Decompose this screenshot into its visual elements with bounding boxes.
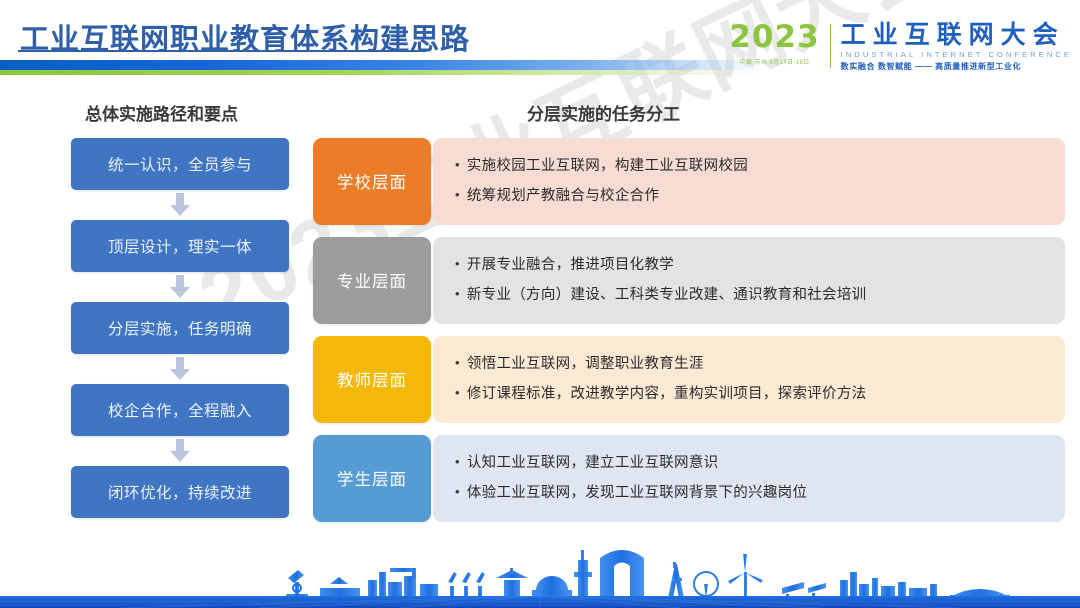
bullet-marker-icon: • [455,284,460,304]
tier-body: •开展专业融合，推进项目化教学•新专业（方向）建设、工科类专业改建、通识教育和社… [433,237,1065,324]
flow-step-1[interactable]: 统一认识，全员参与 [71,138,289,190]
tier-task-list: 学校层面•实施校园工业互联网，构建工业互联网校园•统筹规划产教融合与校企合作专业… [313,138,1065,534]
left-column-heading: 总体实施路径和要点 [85,100,238,125]
tier-bullet: •体验工业互联网，发现工业互联网背景下的兴趣岗位 [455,482,1047,504]
flow-step-3[interactable]: 分层实施，任务明确 [71,302,289,354]
logo-year: 2023 [729,22,819,53]
conference-logo: 2023 中国·苏州 8月14日-16日 工业互联网大会 INDUSTRIAL … [729,22,1072,72]
flow-step-2[interactable]: 顶层设计，理实一体 [71,220,289,272]
bullet-marker-icon: • [455,353,460,373]
slide-canvas: 2023工业互联网大会 工业互联网职业教育体系构建思路 2023 中国·苏州 8… [0,0,1080,608]
logo-name-en: INDUSTRIAL INTERNET CONFERENCE [841,50,1072,59]
slide-header: 工业互联网职业教育体系构建思路 2023 中国·苏州 8月14日-16日 工业互… [0,0,1080,90]
tier-label-text: 教师层面 [337,367,407,391]
tier-label[interactable]: 教师层面 [313,336,431,423]
title-underline [18,50,426,52]
bullet-marker-icon: • [455,482,460,502]
flow-arrow-down-icon [71,436,289,466]
tier-row: 教师层面•领悟工业互联网，调整职业教育生涯•修订课程标准，改进教学内容，重构实训… [313,336,1065,423]
tier-bullet-text: 领悟工业互联网，调整职业教育生涯 [467,353,704,375]
skyline-buildings [286,550,1010,599]
flow-arrow-down-icon [71,354,289,384]
tier-bullet: •实施校园工业互联网，构建工业互联网校园 [455,155,1047,177]
footer-skyline [0,538,1080,608]
tier-bullet-text: 新专业（方向）建设、工科类专业改建、通识教育和社会培训 [467,284,867,306]
flow-step-5[interactable]: 闭环优化，持续改进 [71,466,289,518]
tier-bullet: •开展专业融合，推进项目化教学 [455,254,1047,276]
tier-bullet: •认知工业互联网，建立工业互联网意识 [455,452,1047,474]
tier-label[interactable]: 学校层面 [313,138,431,225]
tier-bullet-text: 实施校园工业互联网，构建工业互联网校园 [467,155,748,177]
flow-arrow-down-icon [71,272,289,302]
flow-step-4[interactable]: 校企合作，全程融入 [71,384,289,436]
tier-row: 学校层面•实施校园工业互联网，构建工业互联网校园•统筹规划产教融合与校企合作 [313,138,1065,225]
implementation-path-flow: 统一认识，全员参与顶层设计，理实一体分层实施，任务明确校企合作，全程融入闭环优化… [71,138,289,518]
logo-date: 中国·苏州 8月14日-16日 [729,57,819,66]
tier-bullet-text: 统筹规划产教融合与校企合作 [467,185,659,207]
flow-step-label: 闭环优化，持续改进 [108,481,252,503]
header-green-bar [0,70,760,75]
bullet-marker-icon: • [455,452,460,472]
tier-label[interactable]: 专业层面 [313,237,431,324]
tier-bullet-text: 认知工业互联网，建立工业互联网意识 [467,452,719,474]
bullet-marker-icon: • [455,185,460,205]
flow-arrow-down-icon [71,190,289,220]
tier-bullet-text: 体验工业互联网，发现工业互联网背景下的兴趣岗位 [467,482,807,504]
tier-label[interactable]: 学生层面 [313,435,431,522]
flow-step-label: 统一认识，全员参与 [108,153,252,175]
tier-body: •领悟工业互联网，调整职业教育生涯•修订课程标准，改进教学内容，重构实训项目，探… [433,336,1065,423]
header-blue-bar [0,60,760,70]
tier-bullet: •新专业（方向）建设、工科类专业改建、通识教育和社会培训 [455,284,1047,306]
right-column-heading: 分层实施的任务分工 [527,100,680,125]
tier-bullet-text: 修订课程标准，改进教学内容，重构实训项目，探索评价方法 [467,383,867,405]
logo-slogan: 数实融合 数智赋能 —— 高质量推进新型工业化 [841,61,1072,72]
tier-label-text: 学校层面 [337,169,407,193]
bullet-marker-icon: • [455,383,460,403]
tier-row: 学生层面•认知工业互联网，建立工业互联网意识•体验工业互联网，发现工业互联网背景… [313,435,1065,522]
tier-bullet: •修订课程标准，改进教学内容，重构实训项目，探索评价方法 [455,383,1047,405]
flow-step-label: 校企合作，全程融入 [108,399,252,421]
tier-body: •实施校园工业互联网，构建工业互联网校园•统筹规划产教融合与校企合作 [433,138,1065,225]
tier-row: 专业层面•开展专业融合，推进项目化教学•新专业（方向）建设、工科类专业改建、通识… [313,237,1065,324]
bullet-marker-icon: • [455,254,460,274]
tier-bullet-text: 开展专业融合，推进项目化教学 [467,254,674,276]
flow-step-label: 顶层设计，理实一体 [108,235,252,257]
tier-bullet: •领悟工业互联网，调整职业教育生涯 [455,353,1047,375]
bullet-marker-icon: • [455,155,460,175]
flow-step-label: 分层实施，任务明确 [108,317,252,339]
tier-body: •认知工业互联网，建立工业互联网意识•体验工业互联网，发现工业互联网背景下的兴趣… [433,435,1065,522]
logo-year-block: 2023 中国·苏州 8月14日-16日 [729,22,829,66]
logo-text-block: 工业互联网大会 INDUSTRIAL INTERNET CONFERENCE 数… [831,22,1072,72]
tier-label-text: 学生层面 [337,466,407,490]
tier-bullet: •统筹规划产教融合与校企合作 [455,185,1047,207]
logo-name-cn: 工业互联网大会 [841,22,1072,48]
tier-label-text: 专业层面 [337,268,407,292]
